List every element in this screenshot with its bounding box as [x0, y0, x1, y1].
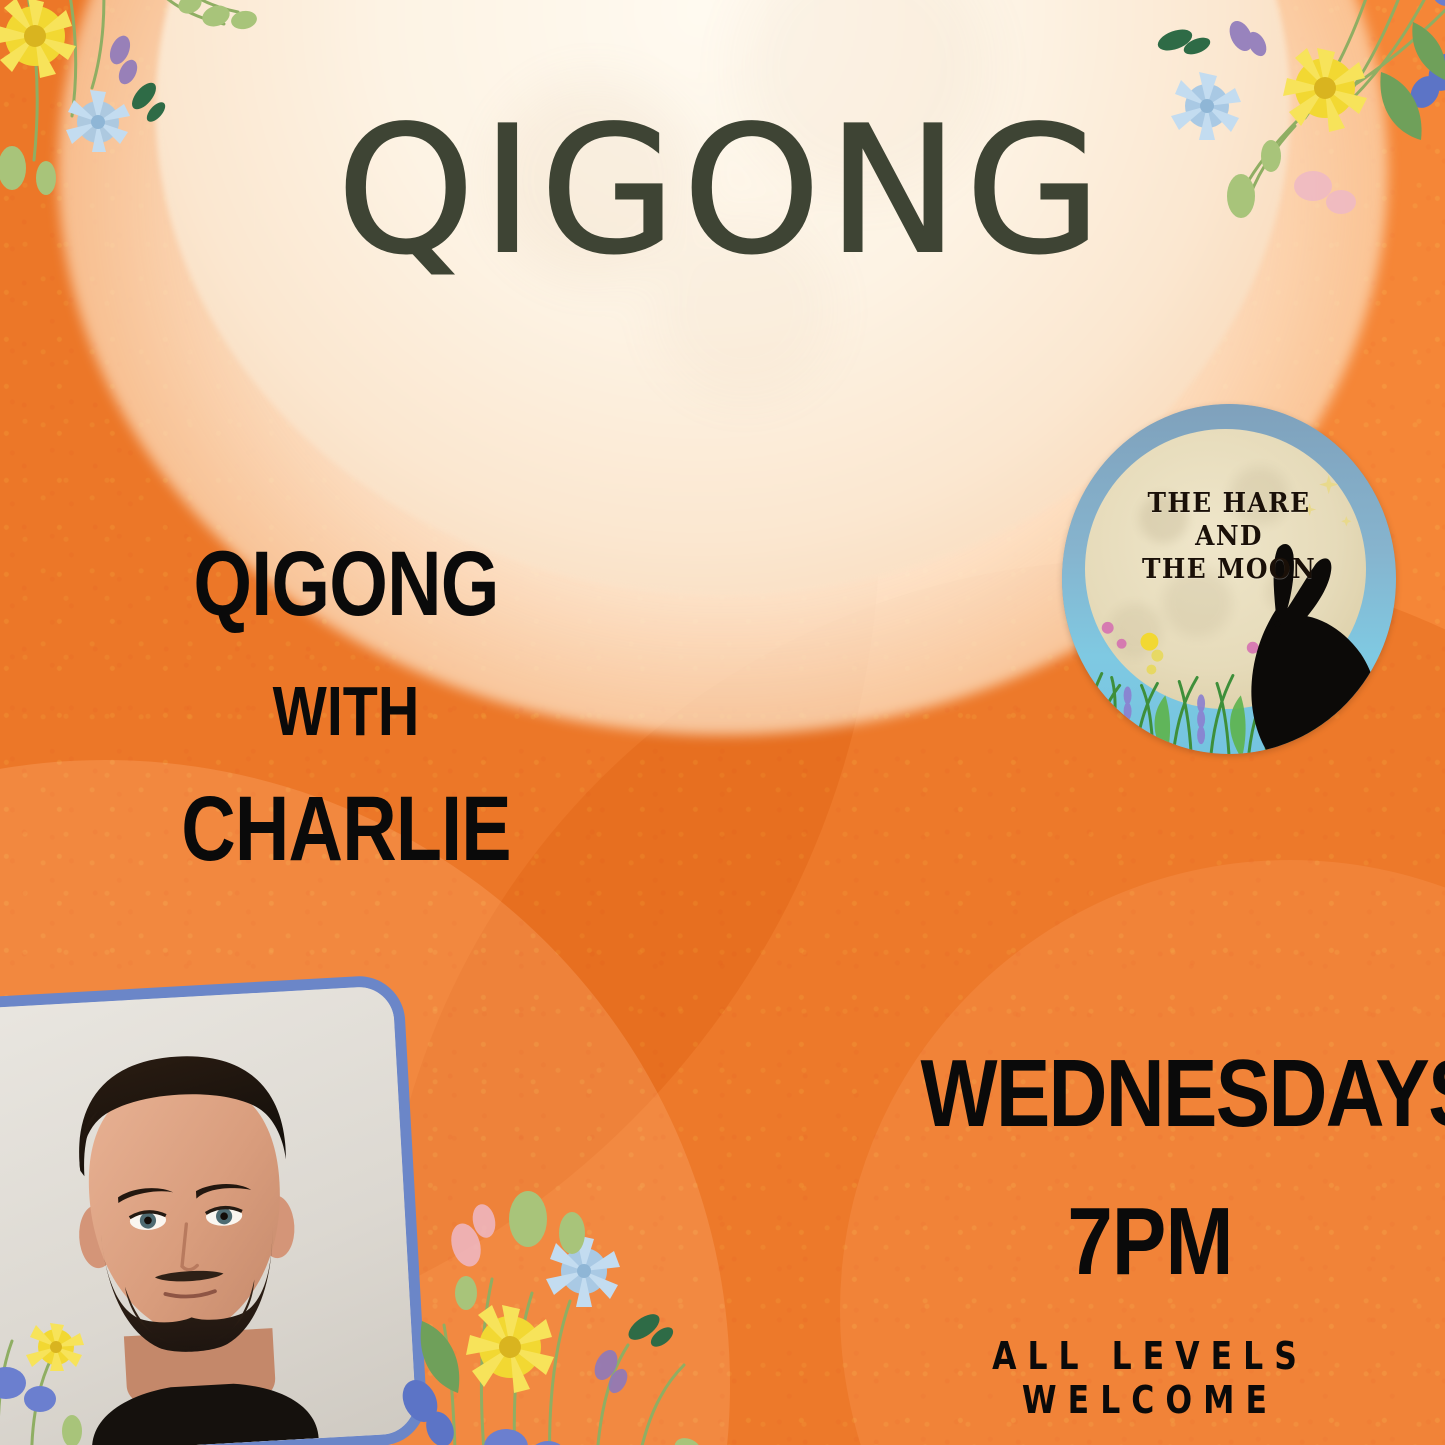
instructor-photo[interactable] — [0, 974, 429, 1445]
logo-text-line-3: THE MOON — [1075, 554, 1382, 587]
schedule-levels-note: ALL LEVELS WELCOME — [902, 1334, 1399, 1422]
schedule-day: WEDNESDAYS — [921, 1046, 1380, 1142]
class-title-line-2: WITH — [174, 676, 518, 747]
portrait-illustration — [0, 985, 417, 1445]
logo-text: THE HARE AND THE MOON — [1075, 488, 1382, 587]
logo-text-line-1: THE HARE — [1075, 488, 1382, 521]
schedule-block: WEDNESDAYS 7PM ALL LEVELS WELCOME — [880, 1046, 1420, 1422]
qigong-poster: QIGONG QIGONG WITH CHARLIE WEDNESDAYS 7P… — [0, 0, 1445, 1445]
hare-and-moon-logo[interactable]: THE HARE AND THE MOON — [1062, 404, 1396, 754]
photo-frame — [0, 974, 429, 1445]
class-title-line-3: CHARLIE — [174, 783, 518, 877]
schedule-time: 7PM — [921, 1194, 1380, 1290]
class-title-line-1: QIGONG — [174, 538, 518, 632]
class-title-block: QIGONG WITH CHARLIE — [136, 538, 556, 877]
page-title: QIGONG — [0, 104, 1445, 279]
logo-text-line-2: AND — [1075, 521, 1382, 554]
